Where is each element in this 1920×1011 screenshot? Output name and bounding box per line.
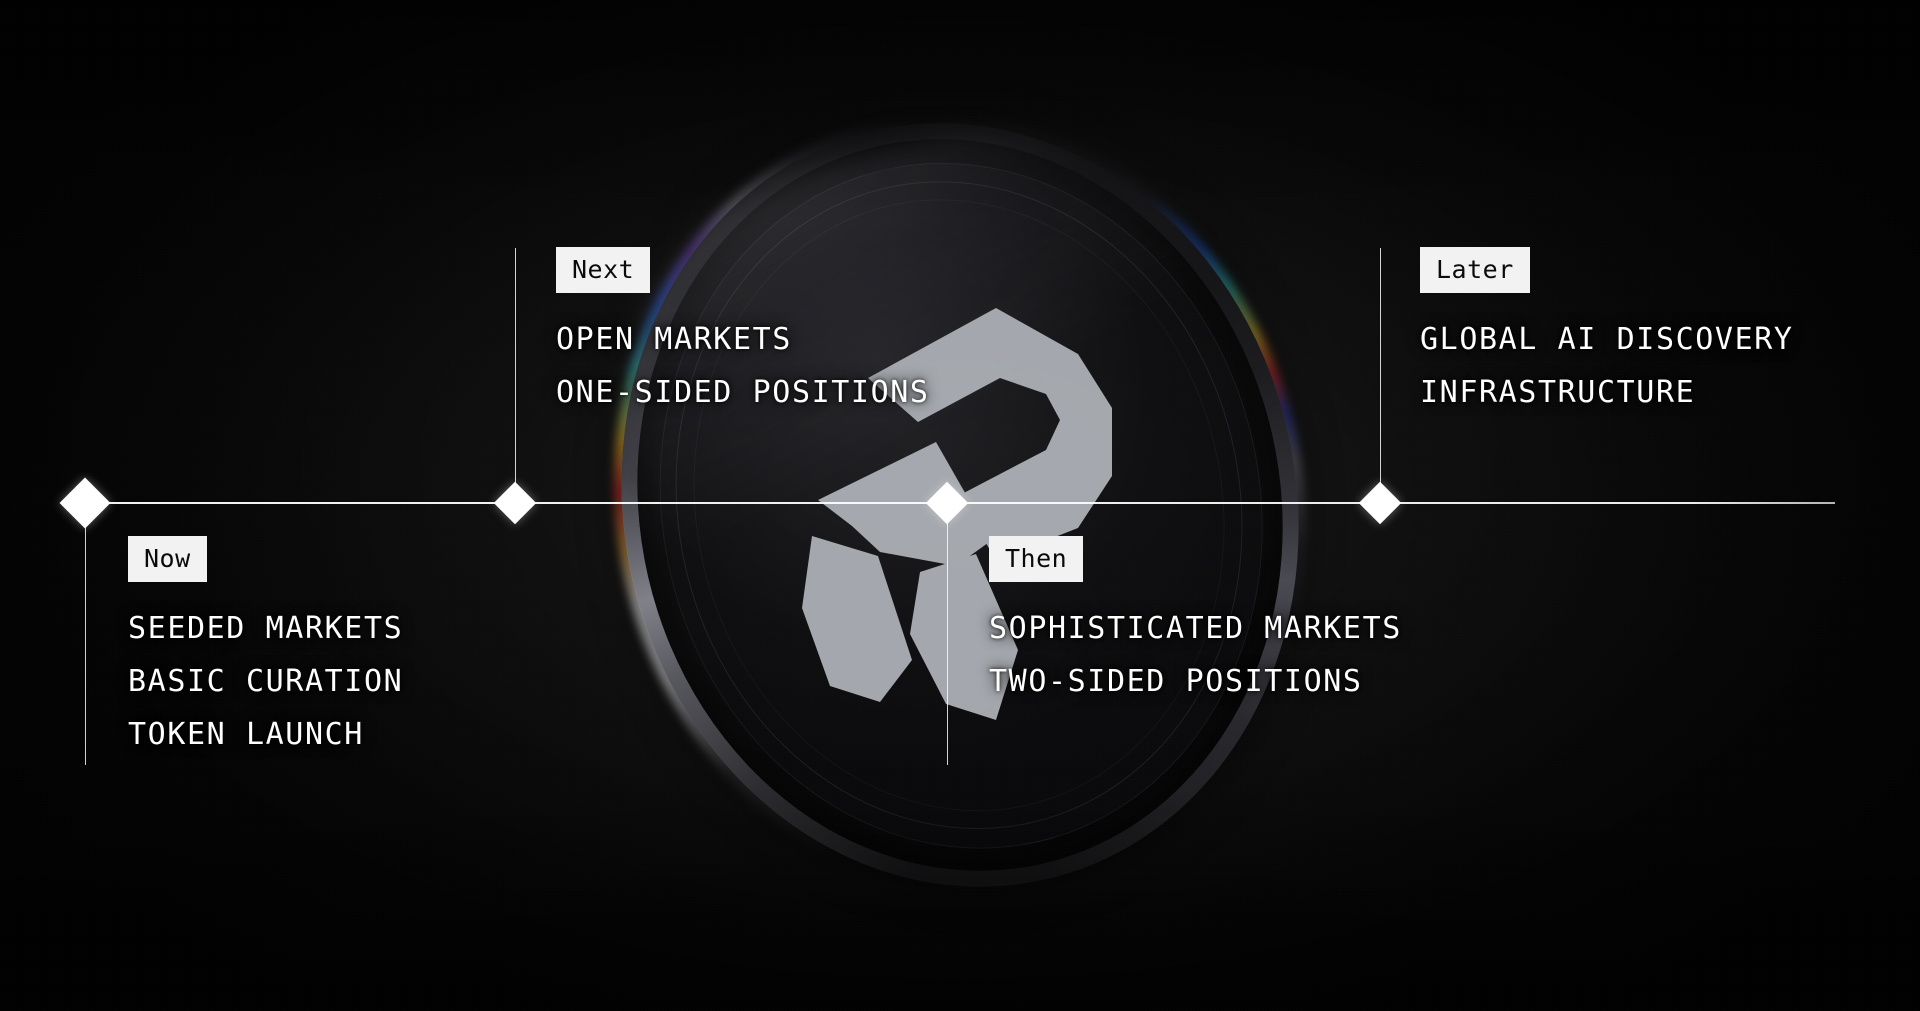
milestone-now: Now SEEDED MARKETS BASIC CURATION TOKEN … — [128, 536, 403, 761]
milestone-items-then: SOPHISTICATED MARKETS TWO-SIDED POSITION… — [989, 602, 1402, 708]
milestone-badge-now[interactable]: Now — [128, 536, 207, 582]
roadmap-canvas: Now SEEDED MARKETS BASIC CURATION TOKEN … — [0, 0, 1920, 1011]
connector-then — [947, 512, 948, 765]
connector-later — [1380, 248, 1381, 493]
milestone-badge-next[interactable]: Next — [556, 247, 650, 293]
milestone-item: OPEN MARKETS — [556, 313, 930, 366]
milestone-item: SOPHISTICATED MARKETS — [989, 602, 1402, 655]
milestone-item: SEEDED MARKETS — [128, 602, 403, 655]
connector-next — [515, 248, 516, 493]
milestone-next: Next OPEN MARKETS ONE-SIDED POSITIONS — [556, 247, 930, 419]
milestone-item: INFRASTRUCTURE — [1420, 366, 1794, 419]
milestone-items-now: SEEDED MARKETS BASIC CURATION TOKEN LAUN… — [128, 602, 403, 761]
milestone-badge-then[interactable]: Then — [989, 536, 1083, 582]
milestone-items-later: GLOBAL AI DISCOVERY INFRASTRUCTURE — [1420, 313, 1794, 419]
milestone-item: BASIC CURATION — [128, 655, 403, 708]
milestone-item: TOKEN LAUNCH — [128, 708, 403, 761]
milestone-item: TWO-SIDED POSITIONS — [989, 655, 1402, 708]
connector-now — [85, 512, 86, 765]
milestone-then: Then SOPHISTICATED MARKETS TWO-SIDED POS… — [989, 536, 1402, 708]
milestone-later: Later GLOBAL AI DISCOVERY INFRASTRUCTURE — [1420, 247, 1794, 419]
milestone-items-next: OPEN MARKETS ONE-SIDED POSITIONS — [556, 313, 930, 419]
milestone-item: ONE-SIDED POSITIONS — [556, 366, 930, 419]
milestone-item: GLOBAL AI DISCOVERY — [1420, 313, 1794, 366]
milestone-badge-later[interactable]: Later — [1420, 247, 1530, 293]
